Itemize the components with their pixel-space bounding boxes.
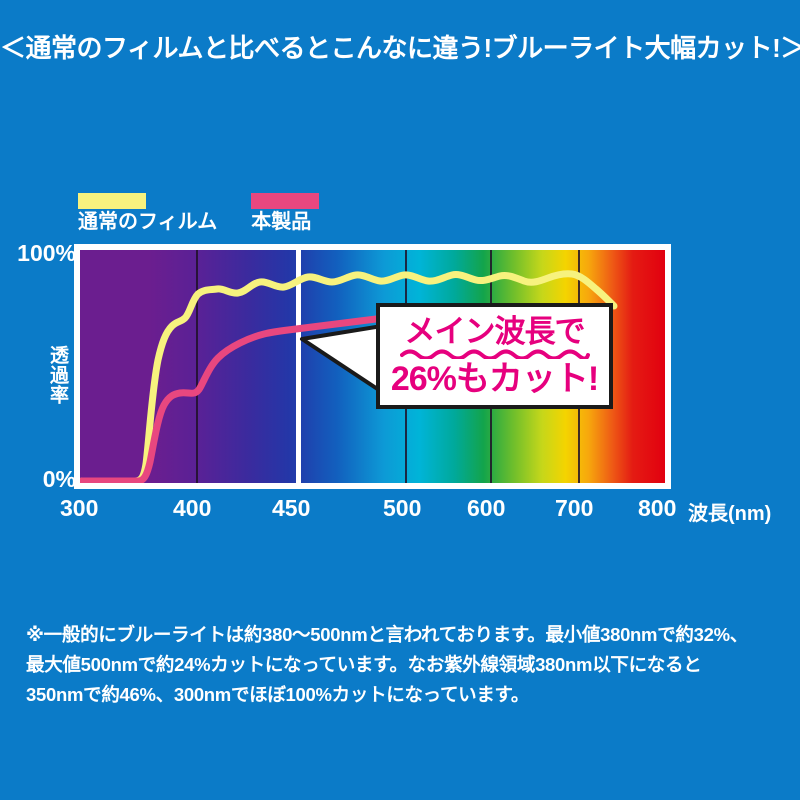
legend-item-normal-film: 通常のフィルム (78, 193, 217, 233)
footnote-line-2: 最大値500nmで約24%カットになっています。なお紫外線領域380nm以下にな… (26, 650, 778, 680)
legend-label-this-product: 本製品 (251, 211, 311, 233)
infographic-root: ＜通常のフィルムと比べるとこんなに違う!ブルーライト大幅カット!＞ 通常のフィル… (0, 0, 800, 800)
page-title: ＜通常のフィルムと比べるとこんなに違う!ブルーライト大幅カット!＞ (0, 28, 800, 65)
callout-box: メイン波長で 26%もカット! (376, 303, 613, 409)
x-tick-450: 450 (272, 495, 310, 522)
footnote-line-3: 350nmで約46%、300nmでほぼ100%カットになっています。 (26, 680, 778, 710)
x-tick-600: 600 (467, 495, 505, 522)
x-tick-500: 500 (383, 495, 421, 522)
footnote: ※一般的にブルーライトは約380〜500nmと言われております。最小値380nm… (26, 620, 778, 710)
x-tick-300: 300 (60, 495, 98, 522)
callout-line-1: メイン波長で (405, 316, 585, 347)
y-axis-title: 透過率 (43, 345, 67, 405)
legend-swatch-this-product (251, 193, 319, 209)
x-tick-700: 700 (555, 495, 593, 522)
x-axis-title: 波長(nm) (688, 497, 771, 526)
x-tick-400: 400 (173, 495, 211, 522)
legend-label-normal-film: 通常のフィルム (78, 211, 217, 233)
y-axis-max-label: 100% (14, 240, 76, 267)
callout-wavy-underline (400, 348, 590, 359)
footnote-line-1: ※一般的にブルーライトは約380〜500nmと言われております。最小値380nm… (26, 620, 778, 650)
y-axis-min-label: 0% (14, 466, 76, 493)
callout-line-2: 26%もカット! (391, 362, 598, 396)
legend-item-this-product: 本製品 (251, 193, 319, 233)
x-tick-800: 800 (638, 495, 676, 522)
callout-pointer (290, 320, 385, 405)
chart-legend: 通常のフィルム 本製品 (78, 193, 319, 233)
legend-swatch-normal-film (78, 193, 146, 209)
